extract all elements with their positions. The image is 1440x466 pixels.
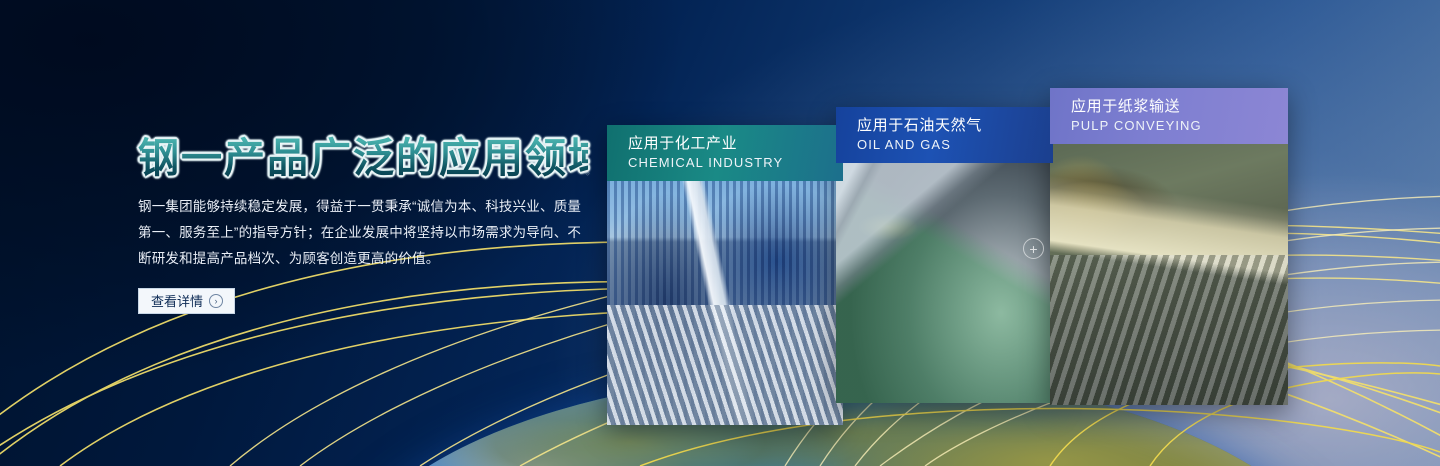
card-oil-title-cn: 应用于石油天然气: [857, 115, 1053, 136]
page-title: 钢一产品广泛的应用领域: [138, 136, 588, 180]
banner-text-block: 钢一产品广泛的应用领域 钢一集团能够持续稳定发展，得益于一贯秉承“诚信为本、科技…: [138, 136, 588, 314]
banner-description: 钢一集团能够持续稳定发展，得益于一贯秉承“诚信为本、科技兴业、质量第一、服务至上…: [138, 194, 584, 272]
card-oil-and-gas[interactable]: 应用于石油天然气 OIL AND GAS: [836, 107, 1053, 403]
chevron-right-icon: ›: [209, 294, 223, 308]
card-pulp-conveying[interactable]: 应用于纸浆输送 PULP CONVEYING: [1050, 88, 1288, 405]
card-oil-caption: 应用于石油天然气 OIL AND GAS: [836, 107, 1053, 163]
card-pulp-caption: 应用于纸浆输送 PULP CONVEYING: [1050, 88, 1288, 144]
chemical-plant-photo: [607, 181, 843, 425]
plus-icon[interactable]: +: [1023, 238, 1044, 259]
card-chemical-caption: 应用于化工产业 CHEMICAL INDUSTRY: [607, 125, 843, 181]
card-chemical-title-cn: 应用于化工产业: [628, 133, 843, 154]
card-oil-title-en: OIL AND GAS: [857, 136, 1053, 154]
view-details-label: 查看详情: [151, 295, 203, 308]
card-pulp-title-cn: 应用于纸浆输送: [1071, 96, 1288, 117]
pulp-conveying-photo: [1050, 144, 1288, 405]
card-chemical-industry[interactable]: 应用于化工产业 CHEMICAL INDUSTRY: [607, 125, 843, 425]
view-details-button[interactable]: 查看详情 ›: [138, 288, 235, 314]
oil-gas-photo: [836, 163, 1053, 403]
card-chemical-title-en: CHEMICAL INDUSTRY: [628, 154, 843, 172]
hero-banner: 钢一产品广泛的应用领域 钢一集团能够持续稳定发展，得益于一贯秉承“诚信为本、科技…: [0, 0, 1440, 466]
card-pulp-title-en: PULP CONVEYING: [1071, 117, 1288, 135]
